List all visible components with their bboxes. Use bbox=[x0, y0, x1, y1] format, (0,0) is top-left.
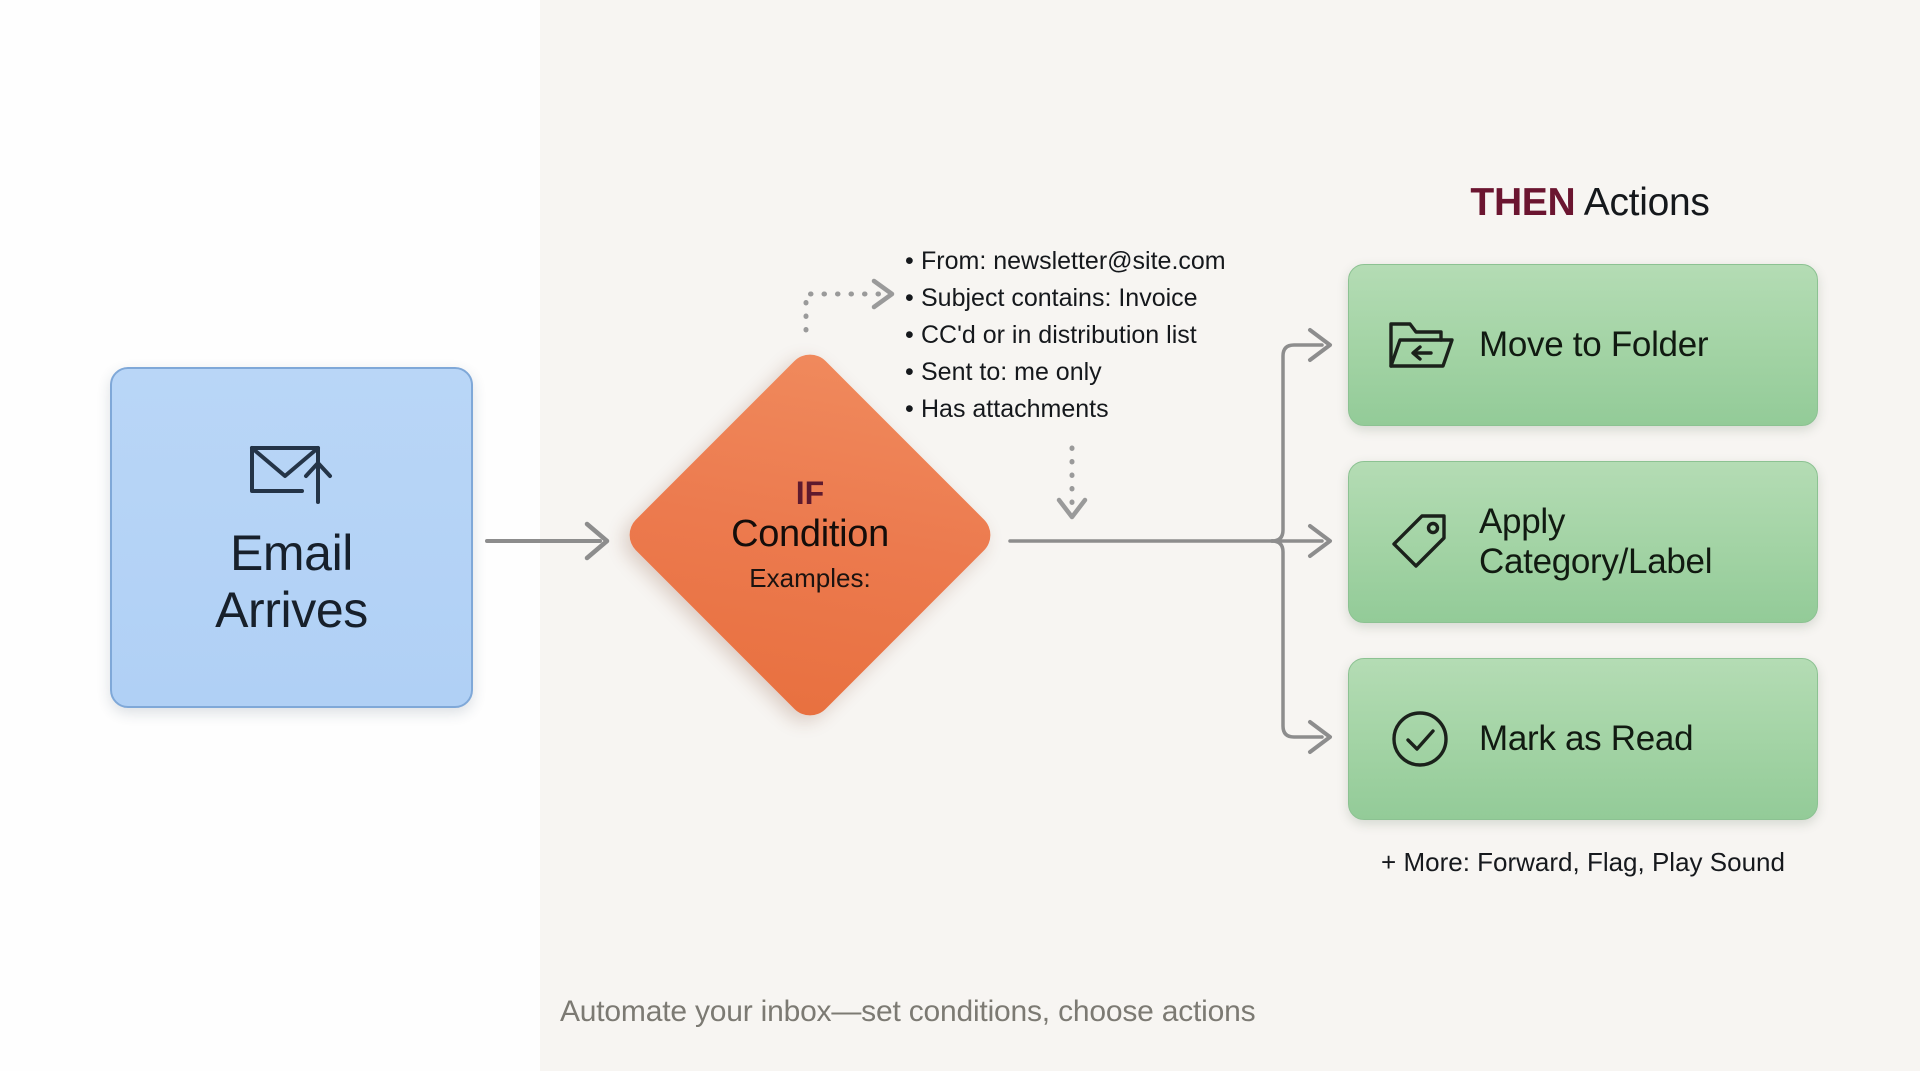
list-item-label: Subject contains: Invoice bbox=[921, 284, 1198, 312]
bullet-glyph: • bbox=[905, 243, 921, 280]
action-label: Mark as Read bbox=[1479, 719, 1693, 759]
check-circle-icon bbox=[1385, 704, 1455, 774]
list-item: •Has attachments bbox=[905, 391, 1305, 428]
then-actions-title: Actions bbox=[1575, 181, 1709, 224]
bullet-glyph: • bbox=[905, 280, 921, 317]
envelope-arrow-up-icon bbox=[246, 436, 338, 511]
bullet-glyph: • bbox=[905, 391, 921, 428]
action-card-mark-as-read[interactable]: Mark as Read bbox=[1348, 658, 1818, 820]
bullet-glyph: • bbox=[905, 317, 921, 354]
folder-move-in-icon bbox=[1385, 310, 1455, 380]
condition-examples-list: •From: newsletter@site.com •Subject cont… bbox=[905, 243, 1305, 428]
list-item-label: Sent to: me only bbox=[921, 358, 1102, 386]
footer-caption: Automate your inbox—set conditions, choo… bbox=[560, 995, 1255, 1029]
list-item: •Sent to: me only bbox=[905, 354, 1305, 391]
action-label: Apply Category/Label bbox=[1479, 502, 1712, 581]
list-item: •Subject contains: Invoice bbox=[905, 280, 1305, 317]
list-item-label: CC'd or in distribution list bbox=[921, 321, 1197, 349]
action-card-apply-category-label[interactable]: Apply Category/Label bbox=[1348, 461, 1818, 623]
list-item: •From: newsletter@site.com bbox=[905, 243, 1305, 280]
bullet-glyph: • bbox=[905, 354, 921, 391]
action-label: Move to Folder bbox=[1479, 325, 1708, 365]
list-item: •CC'd or in distribution list bbox=[905, 317, 1305, 354]
list-item-label: Has attachments bbox=[921, 395, 1109, 423]
tag-icon bbox=[1385, 507, 1455, 577]
condition-keyword: IF bbox=[796, 476, 824, 511]
condition-subtitle: Examples: bbox=[749, 563, 870, 594]
trigger-label: Email Arrives bbox=[215, 525, 368, 640]
more-actions-note: + More: Forward, Flag, Play Sound bbox=[1348, 847, 1818, 878]
diagram-canvas: Email Arrives IF Condition Examples: •Fr… bbox=[0, 0, 1920, 1071]
condition-title: Condition bbox=[731, 513, 889, 557]
action-card-move-to-folder[interactable]: Move to Folder bbox=[1348, 264, 1818, 426]
trigger-node-email-arrives[interactable]: Email Arrives bbox=[110, 367, 473, 708]
then-keyword: THEN bbox=[1470, 181, 1575, 224]
then-actions-header: THEN Actions bbox=[1340, 182, 1840, 225]
list-item-label: From: newsletter@site.com bbox=[921, 247, 1226, 275]
